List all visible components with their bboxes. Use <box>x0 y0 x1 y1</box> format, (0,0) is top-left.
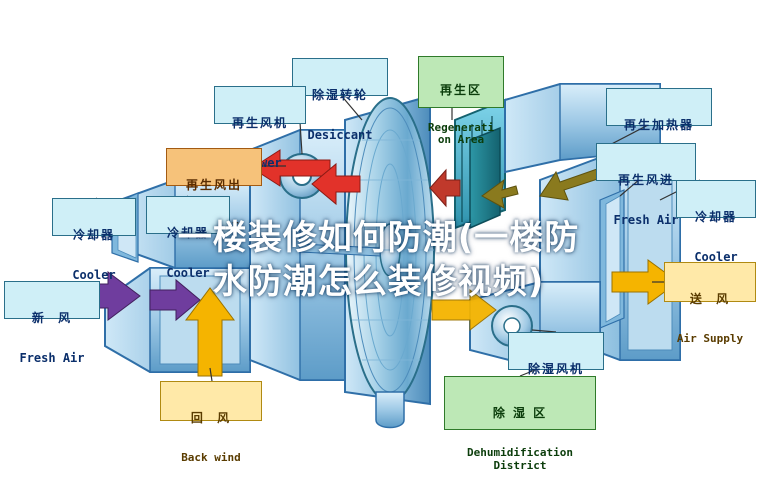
label-cooler-left: 冷却器 Cooler <box>52 198 136 236</box>
label-fresh-air-regen: 再生风进 Fresh Air <box>596 143 696 181</box>
label-dehumidification-district-en: Dehumidification District <box>445 447 595 472</box>
label-dehumid-blower: 除湿风机 Blower <box>508 332 604 370</box>
label-fresh-air-in: 新 风 Fresh Air <box>4 281 100 319</box>
label-desiccant-wheel-en: Desiccant <box>293 129 387 142</box>
label-back-wind: 回 风 Back wind <box>160 381 262 421</box>
label-regeneration-area-cn: 再生区 <box>419 84 503 97</box>
label-regeneration-area-en: Regenerati on Area <box>419 122 503 147</box>
label-back-wind-en: Back wind <box>161 452 261 464</box>
label-exhaust-cn: 再生风出 <box>167 179 261 192</box>
label-regeneration-area: 再生区 Regenerati on Area <box>418 56 504 108</box>
duct-bottom-center <box>376 392 404 428</box>
label-fresh-air-in-cn: 新 风 <box>5 312 99 325</box>
label-cooler-mid-en: Cooler <box>147 267 229 280</box>
label-desiccant-wheel-cn: 除湿转轮 <box>293 89 387 102</box>
label-cooler-right-cn: 冷却器 <box>677 211 755 224</box>
label-regeneration-blower-cn: 再生风机 <box>215 117 305 130</box>
label-cooler-mid: 冷却器 Cooler <box>146 196 230 234</box>
label-fresh-air-in-en: Fresh Air <box>5 352 99 365</box>
label-cooler-mid-cn: 冷却器 <box>147 227 229 240</box>
label-dehumidification-district: 除 湿 区 Dehumidification District <box>444 376 596 430</box>
label-exhaust: 再生风出 Exhaust <box>166 148 262 186</box>
label-dehumid-blower-cn: 除湿风机 <box>509 363 603 376</box>
label-desiccant-wheel: 除湿转轮 Desiccant <box>292 58 388 96</box>
diagram-canvas: 除湿转轮 Desiccant 再生区 Regenerati on Area 再生… <box>0 0 757 488</box>
label-dehumidification-district-cn: 除 湿 区 <box>445 407 595 420</box>
label-air-supply: 送 风 Air Supply <box>664 262 756 302</box>
label-air-supply-cn: 送 风 <box>665 293 755 306</box>
label-cooler-right: 冷却器 Cooler <box>676 180 756 218</box>
label-regeneration-heater: 再生加热器 heater <box>606 88 712 126</box>
label-cooler-left-cn: 冷却器 <box>53 229 135 242</box>
label-air-supply-en: Air Supply <box>665 333 755 345</box>
label-back-wind-cn: 回 风 <box>161 412 261 425</box>
label-regeneration-heater-cn: 再生加热器 <box>607 119 711 132</box>
label-regeneration-blower: 再生风机 Blower <box>214 86 306 124</box>
